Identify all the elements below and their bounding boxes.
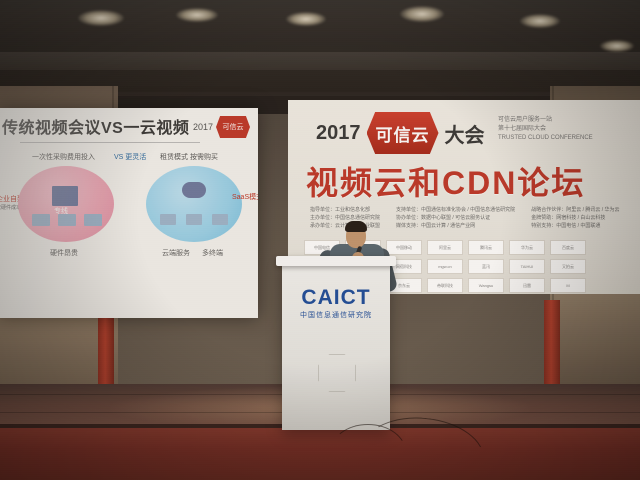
slide-icon-device-a bbox=[52, 186, 78, 206]
slide-logo-badge: 可信云 bbox=[216, 116, 250, 138]
slide-icon-device-d bbox=[84, 214, 102, 226]
podium-logo-text: CAICT bbox=[282, 286, 390, 310]
pillar-right bbox=[544, 300, 560, 396]
sponsor-logo: 迅雷 bbox=[509, 278, 545, 293]
banner-subtitle-line-2: 第十七届国际大会 bbox=[498, 125, 593, 134]
banner-diamond-badge: 可信云 bbox=[367, 112, 439, 154]
slide-icon-device-b bbox=[32, 214, 50, 226]
slide-caption-hardware: 硬件昂贵 bbox=[50, 248, 78, 258]
banner-forum-title: 视频云和CDN论坛 bbox=[306, 158, 585, 204]
slide-divider bbox=[20, 142, 200, 143]
sponsor-logo: 华为云 bbox=[509, 240, 545, 255]
banner-subtitle-line-1: 可信云用户服务一站 bbox=[498, 116, 593, 125]
sponsor-logo: 百度云 bbox=[550, 240, 586, 255]
slide-caption-multiterminal: 多终端 bbox=[202, 248, 223, 258]
slide-label-center: VS 更灵活 bbox=[114, 152, 146, 162]
ceiling-light-1 bbox=[78, 10, 124, 26]
slide-label-left-1: 一次性采购费用投入 bbox=[32, 152, 95, 162]
podium: CAICT 中国信息通信研究院 bbox=[282, 262, 390, 430]
slide-caption-cloud: 云端服务 bbox=[162, 248, 190, 258]
organizer-line-2: 支持单位：中国通信标准化协会 / 中国信息通信研究院 协办单位：数据中心联盟 /… bbox=[396, 206, 515, 230]
projection-screen: 传统视频会议VS一云视频 2017 可信云 一次性采购费用投入 VS 更灵活 租… bbox=[0, 108, 258, 318]
sponsor-logo: 阿里云 bbox=[427, 240, 463, 255]
photo-canvas: 传统视频会议VS一云视频 2017 可信云 一次性采购费用投入 VS 更灵活 租… bbox=[0, 0, 640, 480]
slide-logo-year: 2017 bbox=[193, 122, 213, 132]
sponsor-logo: 蓝汛 bbox=[468, 259, 504, 274]
ceiling-light-3 bbox=[286, 12, 326, 26]
sponsor-logo: 中国移动 bbox=[386, 240, 422, 255]
sponsor-logo: TAIHUI bbox=[509, 259, 545, 274]
sponsor-logo: 又拍云 bbox=[550, 259, 586, 274]
slide-icon-cloud-b bbox=[160, 214, 176, 225]
sponsor-logo: mgw.cn bbox=[427, 259, 463, 274]
sponsor-logo: Wangsu bbox=[468, 278, 504, 293]
speaker-hair bbox=[345, 221, 367, 232]
banner-subtitle-line-3: TRUSTED CLOUD CONFERENCE bbox=[498, 134, 593, 143]
podium-top-surface bbox=[276, 256, 396, 266]
slide-label-right-1: 租赁模式 按需购买 bbox=[160, 152, 218, 162]
podium-subtitle-text: 中国信息通信研究院 bbox=[282, 310, 390, 320]
slide-icon-cloud-a bbox=[182, 182, 206, 198]
banner-subtitle: 可信云用户服务一站 第十七届国际大会 TRUSTED CLOUD CONFERE… bbox=[498, 116, 593, 143]
ceiling-light-4 bbox=[400, 6, 444, 22]
sponsor-logo: 帝联科技 bbox=[427, 278, 463, 293]
ceiling-light-5 bbox=[520, 14, 560, 28]
slide-logo: 2017 可信云 bbox=[193, 116, 250, 138]
slide-bubble-left-label: 专线 bbox=[54, 206, 68, 216]
slide-icon-cloud-d bbox=[212, 214, 228, 225]
ceiling-light-6 bbox=[600, 40, 634, 52]
auditorium-floor bbox=[0, 428, 640, 480]
organizer-line-3: 战略合作伙伴：阿里云 / 腾讯云 / 华为云 金牌赞助：网宿科技 / 白山云科技… bbox=[531, 206, 619, 230]
slide-icon-cloud-c bbox=[186, 214, 202, 225]
organizer-column-3: 战略合作伙伴：阿里云 / 腾讯云 / 华为云 金牌赞助：网宿科技 / 白山云科技… bbox=[531, 206, 619, 230]
banner-year: 2017 bbox=[316, 122, 361, 145]
slide-bubble-cloud bbox=[146, 166, 242, 242]
banner-headline: 2017 可信云 大会 bbox=[316, 112, 485, 154]
sponsor-logo: 腾讯云 bbox=[468, 240, 504, 255]
octagon-emblem-icon bbox=[318, 354, 356, 392]
slide-tag-saas: SaaS模式 随时接入 bbox=[232, 192, 258, 202]
organizer-column-2: 支持单位：中国通信标准化协会 / 中国信息通信研究院 协办单位：数据中心联盟 /… bbox=[396, 206, 515, 230]
slide-title: 传统视频会议VS一云视频 bbox=[2, 114, 189, 138]
ceiling-beam bbox=[0, 52, 640, 70]
banner-congress-label: 大会 bbox=[445, 119, 485, 148]
sponsor-logo: M bbox=[550, 278, 586, 293]
ceiling-light-2 bbox=[176, 8, 218, 22]
